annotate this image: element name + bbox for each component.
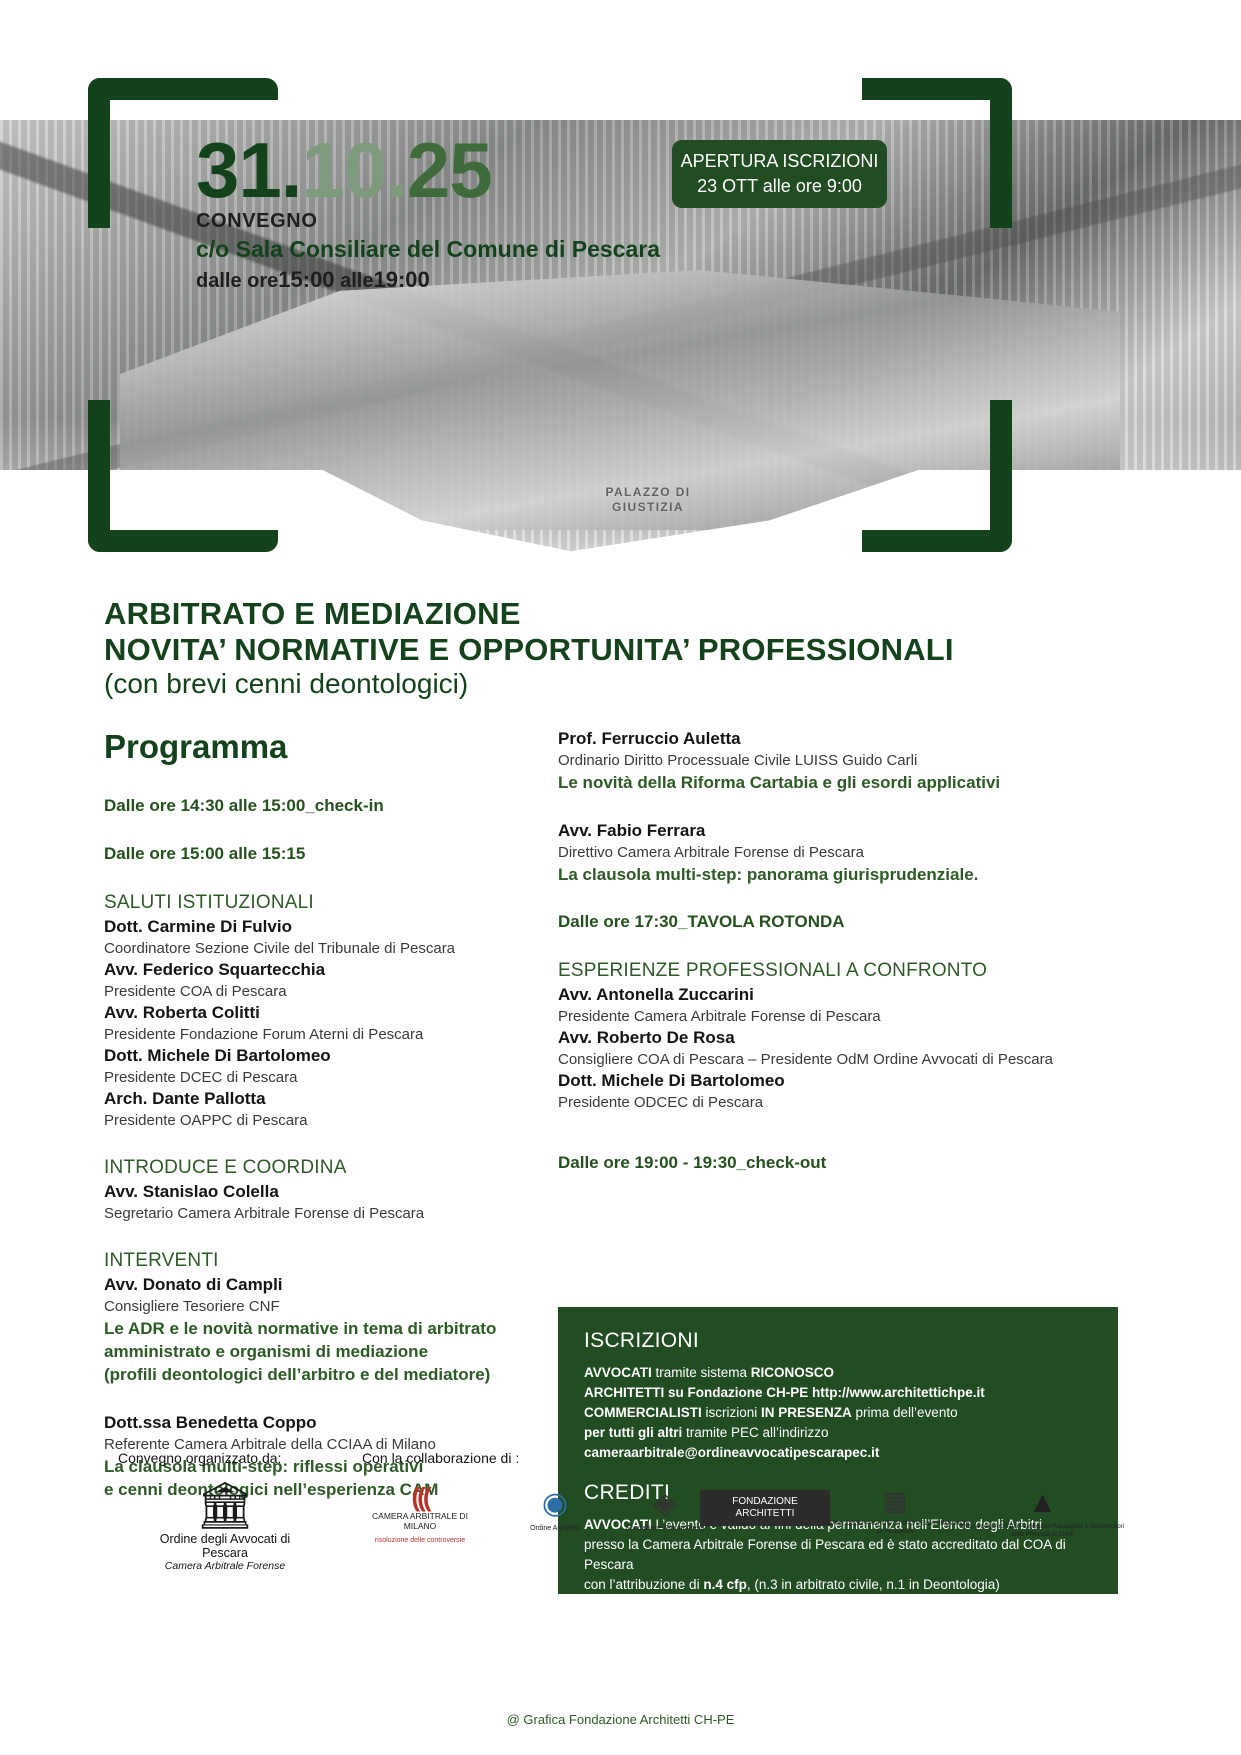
partner-name: ORDINE DEGLI ARCHITETTI PPC DELLA PROVIN…	[820, 1520, 970, 1536]
crediti-line: ARCHITETTI Saranno riconosciuti n.4 cfp …	[584, 1595, 1092, 1615]
page-title-line1: ARBITRATO E MEDIAZIONE	[104, 596, 954, 632]
line-bold-1: COMMERCIALISTI	[584, 1405, 702, 1420]
main-logo-line1: Ordine degli Avvocati di Pescara	[150, 1532, 300, 1560]
event-type-label: CONVEGNO	[196, 210, 317, 233]
date-year: 25	[407, 126, 492, 214]
person-role: Presidente ODCEC di Pescara	[558, 1092, 1118, 1113]
crediti-line: etica e legalità nella professione	[584, 1615, 1092, 1635]
saluti-heading: SALUTI ISTITUZIONALI	[104, 892, 544, 914]
palazzo-sign-text: PALAZZO DI GIUSTIZIA	[588, 485, 708, 537]
partner-name: CAMERA ARBITRALE DI MILANO	[360, 1511, 480, 1531]
person-name: Avv. Federico Squartecchia	[104, 959, 544, 981]
architetti-chieti-icon: ▲	[955, 1486, 1130, 1520]
architetti-pescara-icon: ▦	[820, 1486, 970, 1517]
line-bold-2: RICONOSCO	[751, 1365, 834, 1380]
spacer	[104, 1224, 544, 1250]
talk-topic-line: (profili deontologici dell’arbitro e del…	[104, 1363, 544, 1386]
person-role: Presidente Camera Arbitrale Forense di P…	[558, 1006, 1118, 1027]
person-role: Direttivo Camera Arbitrale Forense di Pe…	[558, 842, 1118, 863]
person-role: Presidente COA di Pescara	[104, 981, 544, 1002]
iscrizioni-line: AVVOCATI tramite sistema RICONOSCO	[584, 1363, 1092, 1383]
frame-right-top-bar	[990, 78, 1012, 228]
checkout-time: Dalle ore 19:00 - 19:30_check-out	[558, 1153, 1118, 1173]
crediti-line: presso la Camera Arbitrale Forense di Pe…	[584, 1535, 1092, 1575]
talk-topic-line: Le ADR e le novità normative in tema di …	[104, 1317, 544, 1340]
crediti-line: con l’attribuzione di n.4 cfp, (n.3 in a…	[584, 1575, 1092, 1595]
organized-by-label: Convegno organizzato da:	[118, 1450, 281, 1466]
collaboration-label: Con la collaborazione di :	[362, 1450, 519, 1466]
speakers-column: Prof. Ferruccio Auletta Ordinario Diritt…	[558, 728, 1118, 1201]
badge-line-1: APERTURA ISCRIZIONI	[681, 149, 879, 174]
person-name: Prof. Ferruccio Auletta	[558, 728, 1118, 750]
saluti-list: Dott. Carmine Di Fulvio Coordinatore Sez…	[104, 916, 544, 1131]
iscrizioni-heading: ISCRIZIONI	[584, 1329, 1092, 1353]
person-role: Coordinatore Sezione Civile del Tribunal…	[104, 938, 544, 959]
frame-bottom-left-bar	[88, 530, 278, 552]
event-date: 31.10.25	[196, 128, 492, 212]
hero-section: PALAZZO DI GIUSTIZIA 31.10.25 CONVEGNO c…	[0, 0, 1241, 600]
line-bold-1: AVVOCATI	[584, 1365, 652, 1380]
registration-opening-badge: APERTURA ISCRIZIONI 23 OTT alle ore 9:00	[672, 140, 887, 208]
person-role: Consigliere Tesoriere CNF	[104, 1296, 544, 1317]
fondazione-architetti-icon: FONDAZIONE ARCHITETTI	[700, 1490, 830, 1526]
spacer	[558, 794, 1118, 820]
round-table-time: Dalle ore 17:30_TAVOLA ROTONDA	[558, 912, 1118, 932]
person-role: Segretario Camera Arbitrale Forense di P…	[104, 1203, 544, 1224]
line-plain-1: iscrizioni	[702, 1405, 761, 1420]
main-logo-line2: Camera Arbitrale Forense	[150, 1560, 300, 1572]
spacer	[584, 1463, 1092, 1481]
partner-logo-ordine-architetti-chieti: ▲ Ordine degli Architetti Pianificatori …	[955, 1486, 1130, 1539]
checkin-time: Dalle ore 14:30 alle 15:00_check-in	[104, 796, 544, 816]
line-bold-2: IN PRESENZA	[761, 1405, 852, 1420]
person-role: Presidente Fondazione Forum Aterni di Pe…	[104, 1024, 544, 1045]
line-bold-1: ARCHITETTI	[584, 1597, 664, 1612]
person-name: Dott. Michele Di Bartolomeo	[104, 1045, 544, 1067]
partner-logo-ordine-architetti-pescara: ▦ ORDINE DEGLI ARCHITETTI PPC DELLA PROV…	[820, 1486, 970, 1536]
talk-topic-line: Le novità della Riforma Cartabia e gli e…	[558, 771, 1118, 794]
line-plain-2: in arbitrato civile	[875, 1637, 976, 1652]
page-title-line2: NOVITA’ NORMATIVE E OPPORTUNITA’ PROFESS…	[104, 632, 954, 668]
partner-name: Ordine degli Architetti Pianificatori Pa…	[955, 1523, 1130, 1539]
talk-topic-line: amministrato e organismi di mediazione	[104, 1340, 544, 1363]
person-role: Ordinario Diritto Processuale Civile LUI…	[558, 750, 1118, 771]
person-role: Presidente OAPPC di Pescara	[104, 1110, 544, 1131]
camera-arbitrale-milano-icon: (((	[360, 1486, 480, 1508]
date-day: 31.	[196, 126, 301, 214]
person-role: Consigliere COA di Pescara – Presidente …	[558, 1049, 1118, 1070]
interventi-heading: INTERVENTI	[104, 1250, 544, 1272]
line-plain-1: Saranno riconosciuti	[702, 1637, 832, 1652]
person-name: Avv. Roberto De Rosa	[558, 1027, 1118, 1049]
line-bold-1: ARCHITETTI su Fondazione CH-PE http://ww…	[584, 1385, 985, 1400]
line-bold-2: n.4 cfp	[703, 1577, 747, 1592]
frame-right-bottom-bar	[990, 400, 1012, 552]
event-hours: dalle ore15:00 alle19:00	[196, 267, 430, 293]
temple-book-icon: 🏛	[150, 1482, 300, 1528]
person-name: Avv. Roberta Colitti	[104, 1002, 544, 1024]
registration-credits-box: ISCRIZIONI AVVOCATI tramite sistema RICO…	[558, 1307, 1118, 1594]
graphics-credit: @ Grafica Fondazione Architetti CH-PE	[0, 1712, 1241, 1727]
frame-left-top-bar	[88, 78, 110, 228]
partner-name: Ordine Architetti	[500, 1524, 610, 1533]
hours-mid: alle	[340, 270, 373, 292]
introduce-heading: INTRODUCE E COORDINA	[104, 1157, 544, 1179]
person-name: Avv. Stanislao Colella	[104, 1181, 544, 1203]
line-bold-2: n.4 cfp	[832, 1637, 876, 1652]
line-bold-1: per tutti gli altri	[584, 1425, 682, 1440]
iscrizioni-line[interactable]: per tutti gli altri tramite PEC all’indi…	[584, 1423, 1092, 1463]
line-plain-2: prima dell’evento	[852, 1405, 958, 1420]
partner-logo-fondazione-architetti: FONDAZIONE ARCHITETTI	[700, 1490, 830, 1529]
date-month: 10.	[301, 126, 406, 214]
ordine-architetti-icon: ◉	[500, 1486, 610, 1521]
line-plain-1: con l’attribuzione di	[584, 1577, 703, 1592]
person-name: Dott.ssa Benedetta Coppo	[104, 1412, 544, 1434]
frame-top-left-bar	[88, 78, 278, 100]
line-plain-1: presso la Camera Arbitrale Forense di Pe…	[584, 1537, 1066, 1572]
spacer	[558, 1113, 1118, 1139]
partner-sub: risoluzione delle controversie	[360, 1537, 480, 1544]
line-plain-2: , (n.3 in arbitrato civile, n.1 in Deont…	[747, 1577, 1000, 1592]
iscrizioni-line: COMMERCIALISTI iscrizioni IN PRESENZA pr…	[584, 1403, 1092, 1423]
programme-column: Programma Dalle ore 14:30 alle 15:00_che…	[104, 728, 544, 1501]
person-name: Dott. Michele Di Bartolomeo	[558, 1070, 1118, 1092]
line-bold-2: n.4 cfp	[794, 1597, 838, 1612]
spacer	[104, 1386, 544, 1412]
line-plain-1: tramite PEC all’indirizzo	[682, 1425, 828, 1440]
page-title: ARBITRATO E MEDIAZIONE NOVITA’ NORMATIVE…	[104, 596, 954, 668]
person-name: Dott. Carmine Di Fulvio	[104, 916, 544, 938]
line-plain-1: tramite sistema	[652, 1365, 751, 1380]
spacer	[558, 886, 1118, 912]
hours-start: 15:00	[278, 267, 334, 292]
line-plain-1: Saranno riconosciuti	[664, 1597, 794, 1612]
iscrizioni-lines: AVVOCATI tramite sistema RICONOSCO ARCHI…	[584, 1363, 1092, 1463]
frame-left-bottom-bar	[88, 400, 110, 552]
programme-heading: Programma	[104, 728, 544, 766]
person-name: Arch. Dante Pallotta	[104, 1088, 544, 1110]
esperienze-heading: ESPERIENZE PROFESSIONALI A CONFRONTO	[558, 960, 1118, 982]
talk-topic-line: La clausola multi-step: panorama giurisp…	[558, 863, 1118, 886]
partner-logo-ordine-architetti: ◉ Ordine Architetti	[500, 1486, 610, 1533]
hours-prefix: dalle ore	[196, 270, 278, 292]
ordine-avvocati-logo: 🏛 Ordine degli Avvocati di Pescara Camer…	[150, 1482, 300, 1572]
spacer	[558, 1139, 1118, 1153]
hours-end: 19:00	[373, 267, 429, 292]
line-plain-1: etica e legalità nella professione	[584, 1617, 776, 1632]
event-venue: c/o Sala Consiliare del Comune di Pescar…	[196, 236, 660, 263]
iscrizioni-line[interactable]: ARCHITETTI su Fondazione CH-PE http://ww…	[584, 1383, 1092, 1403]
line-bold-1: COMMERCIALISTI	[584, 1637, 702, 1652]
partner-logo-camera-arbitrale-milano: ((( CAMERA ARBITRALE DI MILANO risoluzio…	[360, 1486, 480, 1544]
person-name: Avv. Fabio Ferrara	[558, 820, 1118, 842]
person-name: Avv. Antonella Zuccarini	[558, 984, 1118, 1006]
page-subtitle: (con brevi cenni deontologici)	[104, 668, 468, 700]
person-role: Presidente DCEC di Pescara	[104, 1067, 544, 1088]
spacer	[104, 1131, 544, 1157]
badge-line-2: 23 OTT alle ore 9:00	[697, 174, 862, 199]
crediti-line: COMMERCIALISTI Saranno riconosciuti n.4 …	[584, 1635, 1092, 1655]
line-plain-2: di deontologia, discipline ordinistiche,	[838, 1597, 1065, 1612]
opening-time: Dalle ore 15:00 alle 15:15	[104, 844, 544, 864]
line-bold-2: cameraarbitrale@ordineavvocatipescarapec…	[584, 1445, 879, 1460]
person-name: Avv. Donato di Campli	[104, 1274, 544, 1296]
